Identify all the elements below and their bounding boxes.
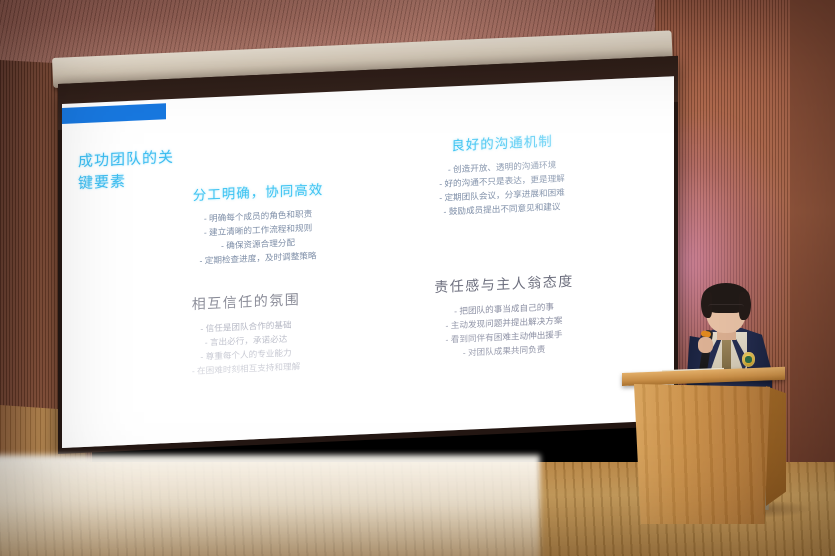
slide-section-3: 相互信任的氛围 - 信任是团队合作的基础 - 言出必行，承诺必达 - 尊重每个人… [140,287,352,381]
floor-light-spill [0,455,540,556]
section-1-heading: 分工明确，协同高效 [158,177,358,206]
presenter-hand [698,337,713,353]
auditorium-scene: 成功团队的关键要素 分工明确，协同高效 - 明确每个成员的角色和职责 - 建立清… [0,0,835,556]
glasses-icon [708,304,744,312]
section-2-heading: 良好的沟通机制 [392,127,612,157]
section-4-heading: 责任感与主人翁态度 [390,269,618,299]
presenter-tie [722,336,731,370]
slide-surface: 成功团队的关键要素 分工明确，协同高效 - 明确每个成员的角色和职责 - 建立清… [62,76,674,448]
slide-section-1: 分工明确，协同高效 - 明确每个成员的角色和职责 - 建立清晰的工作流程和规则 … [158,177,358,271]
school-crest-badge [742,352,755,367]
right-wall-far [790,0,835,470]
projection-screen: 成功团队的关键要素 分工明确，协同高效 - 明确每个成员的角色和职责 - 建立清… [62,76,674,448]
slide-accent-bar [62,103,166,124]
section-3-heading: 相互信任的氛围 [140,287,352,317]
slide-section-2: 良好的沟通机制 - 创造开放、透明的沟通环境 - 好的沟通不只是表达，更是理解 … [392,127,612,222]
slide-section-4: 责任感与主人翁态度 - 把团队的事当成自己的事 - 主动发现问题并提出解决方案 … [390,269,618,364]
podium [634,384,770,524]
